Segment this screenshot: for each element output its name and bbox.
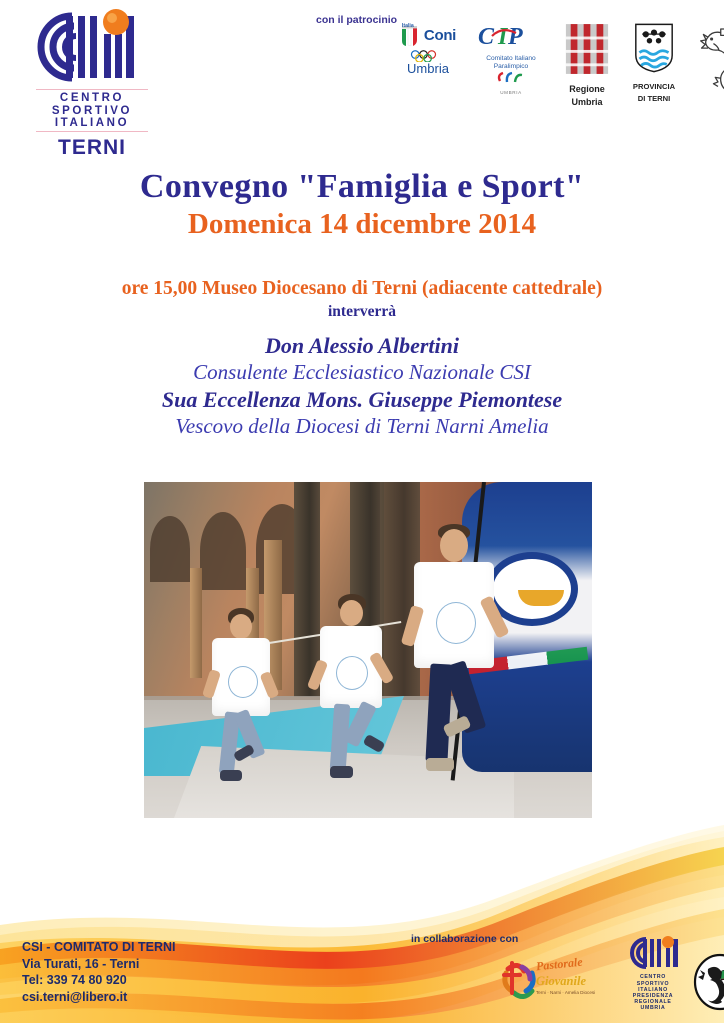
coni-italia-text: Italia bbox=[402, 23, 414, 29]
csi-logo-wordmark: CENTRO SPORTIVO ITALIANO TERNI bbox=[36, 88, 148, 160]
photo-runner-adult bbox=[406, 524, 516, 814]
cip-region-label: UMBRIA bbox=[473, 90, 549, 95]
collab-logo-pastorale-giovanile: Pastorale Giovanile Terni · Narni · Amel… bbox=[496, 953, 614, 1011]
svg-text:P: P bbox=[507, 24, 523, 50]
patron-logo-row: Italia Coni Umbria bbox=[392, 22, 724, 100]
pastorale-diocesi-line: Terni · Narni · Amelia Diocesi bbox=[536, 990, 595, 995]
coni-region-label: Umbria bbox=[392, 61, 464, 76]
speaker-list: Don Alessio Albertini Consulente Ecclesi… bbox=[0, 332, 724, 440]
poster-venue: ore 15,00 Museo Diocesano di Terni (adia… bbox=[0, 277, 724, 301]
footer-phone[interactable]: Tel: 339 74 80 920 bbox=[22, 972, 175, 989]
title-block: Convegno "Famiglia e Sport" Domenica 14 … bbox=[0, 168, 724, 321]
poster-date: Domenica 14 dicembre 2014 bbox=[0, 207, 724, 241]
comune-terni-dragon-icon bbox=[692, 22, 724, 103]
pastorale-line1: Pastorale bbox=[535, 955, 583, 975]
cip-monogram-icon: C I P bbox=[473, 22, 549, 55]
cip-caption-line2: Paralimpico bbox=[473, 63, 549, 71]
event-photo bbox=[144, 482, 592, 818]
footer-email[interactable]: csi.terni@libero.it bbox=[22, 989, 175, 1006]
csi-word-italiano: ITALIANO bbox=[36, 117, 148, 130]
regione-caption-line2: Umbria bbox=[558, 97, 616, 107]
photo-arch bbox=[200, 512, 246, 590]
photo-arch bbox=[150, 516, 190, 582]
collab-logo-dragon-terni: TERNI bbox=[692, 953, 724, 1011]
speaker-role: Vescovo della Diocesi di Terni Narni Ame… bbox=[0, 413, 724, 440]
regione-caption-line1: Regione bbox=[558, 84, 616, 94]
csi-logo-city: TERNI bbox=[36, 136, 148, 160]
patron-logo-comune-di-terni: Comune di Terni bbox=[692, 22, 724, 103]
provincia-caption-line2: DI TERNI bbox=[625, 94, 683, 103]
paralympic-agitos-icon bbox=[473, 70, 549, 89]
patrocinio-label: con il patrocinio bbox=[316, 14, 397, 26]
photo-runner-child-middle bbox=[314, 594, 400, 809]
photo-column bbox=[190, 568, 202, 678]
cip-caption-line1: Comitato Italiano bbox=[473, 55, 549, 63]
pastorale-line2: Giovanile bbox=[536, 974, 595, 989]
poster-title: Convegno "Famiglia e Sport" bbox=[0, 168, 724, 206]
patron-logo-coni-umbria: Italia Coni Umbria bbox=[392, 22, 464, 76]
provincia-caption-line1: PROVINCIA bbox=[625, 82, 683, 91]
collab-logo-csi-regionale-umbria: CENTRO SPORTIVO ITALIANO PRESIDENZA REGI… bbox=[622, 935, 684, 1011]
divider bbox=[36, 131, 148, 132]
csi-terni-logo: CENTRO SPORTIVO ITALIANO TERNI bbox=[18, 8, 158, 158]
coni-wordmark: Coni bbox=[424, 27, 456, 44]
patron-logo-provincia-di-terni: PROVINCIA DI TERNI bbox=[625, 22, 683, 103]
collaboration-logo-row: Pastorale Giovanile Terni · Narni · Amel… bbox=[496, 935, 724, 1011]
speaker-name: Don Alessio Albertini bbox=[0, 332, 724, 359]
divider bbox=[36, 89, 148, 90]
photo-runner-child-left bbox=[206, 608, 286, 808]
csi-monogram-icon bbox=[622, 935, 684, 974]
svg-text:C: C bbox=[478, 24, 495, 50]
footer-contact-block: CSI - COMITATO DI TERNI Via Turati, 16 -… bbox=[22, 939, 175, 1005]
csi-word-centro: CENTRO bbox=[36, 92, 148, 105]
csi-monogram-icon bbox=[26, 8, 148, 86]
speaker-name: Sua Eccellenza Mons. Giuseppe Piemontese bbox=[0, 386, 724, 413]
patron-logo-comitato-italiano-paralimpico: C I P Comitato Italiano Paralimpico UMBR… bbox=[473, 22, 549, 95]
csi-word-sportivo: SPORTIVO bbox=[36, 105, 148, 118]
speaker-role: Consulente Ecclesiastico Nazionale CSI bbox=[0, 359, 724, 386]
pastorale-wordmark: Pastorale Giovanile Terni · Narni · Amel… bbox=[536, 955, 595, 995]
footer-address: Via Turati, 16 - Terni bbox=[22, 956, 175, 973]
coni-flag-icon: Italia bbox=[400, 23, 422, 47]
poster-intro-label: interverrà bbox=[0, 303, 724, 321]
csi-reg-line6: UMBRIA bbox=[622, 1005, 684, 1011]
olympic-rings-icon bbox=[392, 49, 464, 60]
regione-umbria-emblem-icon bbox=[558, 22, 616, 81]
poster-header: CENTRO SPORTIVO ITALIANO TERNI con il pa… bbox=[0, 0, 724, 165]
patron-logo-regione-umbria: Regione Umbria bbox=[558, 22, 616, 107]
footer-org-name: CSI - COMITATO DI TERNI bbox=[22, 939, 175, 956]
coni-lockup: Italia Coni bbox=[392, 22, 464, 48]
provincia-terni-shield-icon bbox=[625, 22, 683, 79]
